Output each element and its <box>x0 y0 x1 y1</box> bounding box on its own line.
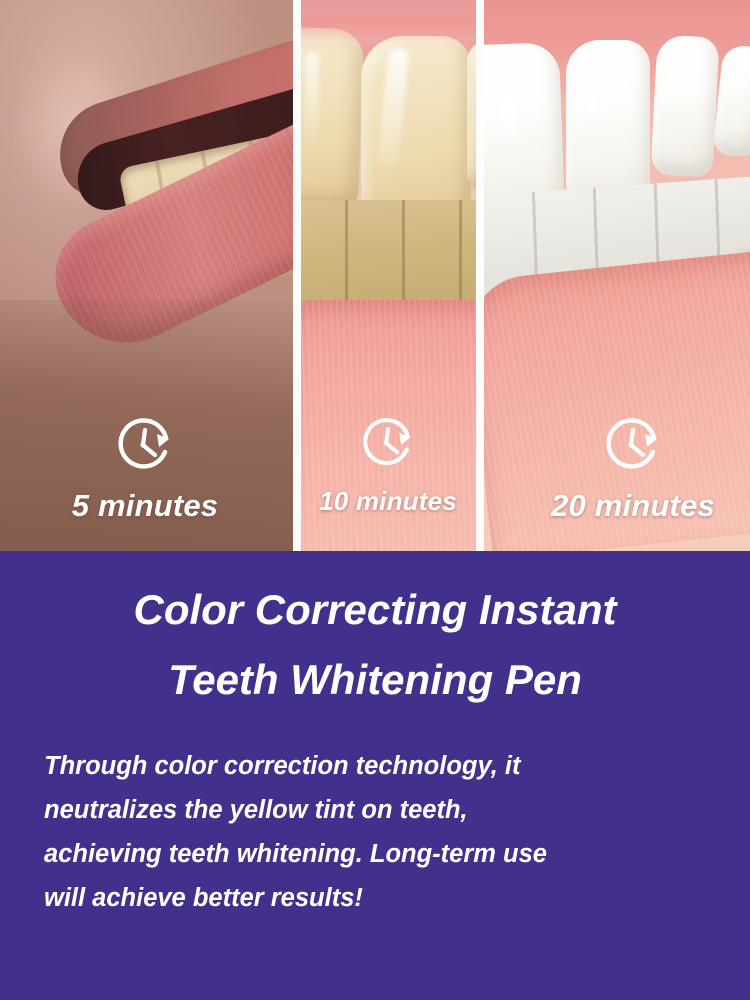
timing-badge-label: 5 minutes <box>55 488 235 524</box>
teeth-whitening-ad-page: 5 minutes 10 minutes 20 minutes <box>0 0 750 1000</box>
headline-line-2: Teeth Whitening Pen <box>0 631 750 701</box>
description-line: will achieve better results! <box>44 877 710 921</box>
timing-badge-label: 10 minutes <box>310 486 466 517</box>
panel2-gumline <box>301 16 476 52</box>
before-after-comparison-strip: 5 minutes 10 minutes 20 minutes <box>0 0 750 551</box>
description-line: achieving teeth whitening. Long-term use <box>44 833 710 877</box>
description-line: neutralizes the yellow tint on teeth, <box>44 789 710 833</box>
panel-divider <box>293 0 301 551</box>
panel2-tooth <box>361 36 471 226</box>
timing-badge-10-minutes: 10 minutes <box>310 414 466 517</box>
product-copy-section: Color Correcting Instant Teeth Whitening… <box>0 551 750 1000</box>
timing-badge-5-minutes: 5 minutes <box>55 414 235 524</box>
clock-arrow-icon <box>114 414 176 476</box>
panel2-tooth-highlight <box>305 52 319 142</box>
description-line: Through color correction technology, it <box>44 745 710 789</box>
timing-badge-label: 20 minutes <box>540 488 726 524</box>
panel2-tooth <box>467 40 476 190</box>
headline-line-1: Color Correcting Instant <box>0 551 750 631</box>
panel3-tooth-highlight <box>492 60 526 170</box>
panel-divider <box>476 0 484 551</box>
panel3-tooth-highlight <box>580 56 602 148</box>
panel3-tooth <box>566 40 650 208</box>
clock-arrow-icon <box>359 414 417 472</box>
panel3-tooth <box>650 34 719 177</box>
product-description: Through color correction technology, it … <box>0 701 750 920</box>
timing-badge-20-minutes: 20 minutes <box>540 414 726 524</box>
clock-arrow-icon <box>602 414 664 476</box>
